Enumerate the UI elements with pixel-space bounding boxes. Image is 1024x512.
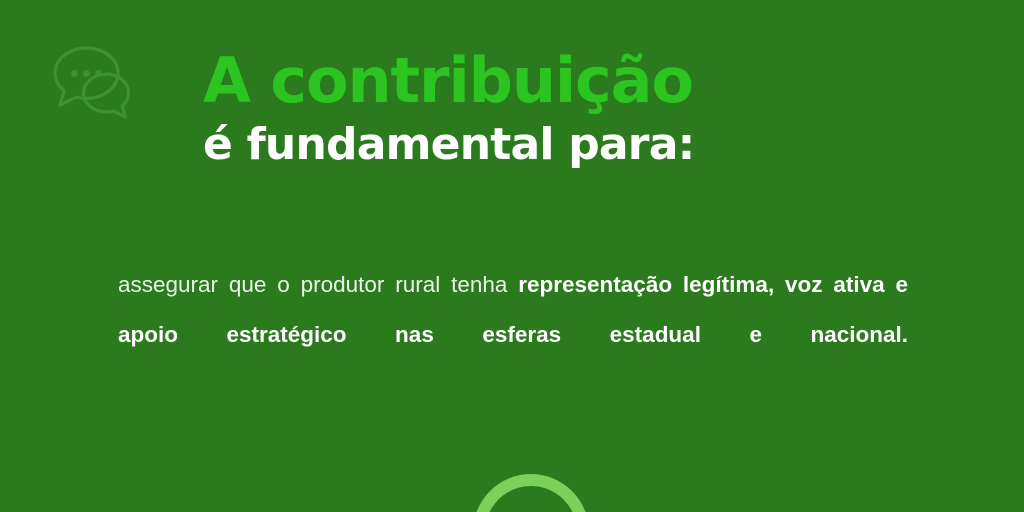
headline-line-secondary: é fundamental para: [203, 118, 963, 172]
body-lead-text: assegurar que o produtor rural tenha [118, 272, 518, 297]
slide-root: A contribuição é fundamental para: asseg… [0, 0, 1024, 512]
ring-arc [467, 468, 595, 512]
chat-bubbles-icon [50, 44, 152, 122]
body-paragraph: assegurar que o produtor rural tenha rep… [118, 260, 908, 410]
headline-line-primary: A contribuição [203, 46, 963, 116]
headline-block: A contribuição é fundamental para: [203, 46, 963, 172]
